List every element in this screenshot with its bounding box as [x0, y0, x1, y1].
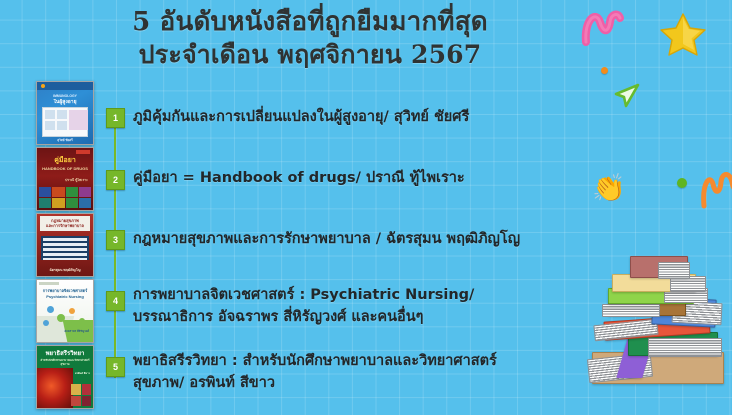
cover-3-title-plate: กฎหมายสุขภาพ และการรักษาพยาบาล — [40, 216, 90, 231]
cover-5-subtitle: สำหรับนักศึกษาพยาบาลและวิทยาศาสตร์สุขภาพ — [40, 358, 90, 366]
cover-3-author: ฉัตรสุมน พฤฒิภิญโญ — [40, 268, 90, 273]
rank-badge-1[interactable]: 1 — [106, 108, 125, 128]
cover-5-micro-photos — [71, 384, 91, 406]
cover-2-author: ปราณี ทู้ไพเราะ — [65, 178, 88, 183]
cover-2-title: คู่มือยา — [40, 156, 90, 167]
cover-2-corner-tab — [76, 150, 90, 154]
green-cursor-arrow-icon — [612, 82, 642, 112]
cover-1-figure-box — [42, 107, 88, 137]
cover-2-pill-photos — [39, 187, 91, 208]
list-item-3-line-1: กฎหมายสุขภาพและการรักษาพยาบาล / ฉัตรสุมน… — [133, 231, 520, 247]
rank-badge-3[interactable]: 3 — [106, 230, 125, 250]
clapping-hands-icon: 👏 — [592, 175, 626, 202]
list-item-4[interactable]: การพยาบาลจิตเวชศาสตร์ : Psychiatric Nurs… — [133, 284, 474, 328]
cover-1-title: ในผู้สูงอายุ — [40, 99, 90, 107]
list-item-2-line-1: คู่มือยา = Handbook of drugs/ ปราณี ทู้ไ… — [133, 170, 465, 186]
green-dot-icon — [677, 178, 687, 188]
list-item-4-line-1: การพยาบาลจิตเวชศาสตร์ : Psychiatric Nurs… — [133, 287, 474, 303]
rank-badge-2[interactable]: 2 — [106, 170, 125, 190]
page-title-line-1: 5 อันดับหนังสือที่ถูกยืมมากที่สุด — [0, 6, 620, 39]
cover-1-top-band — [37, 82, 93, 90]
cover-psychiatric-nursing[interactable]: การพยาบาลจิตเวชศาสตร์ Psychiatric Nursin… — [36, 279, 94, 343]
rank-badge-4[interactable]: 4 — [106, 291, 125, 311]
page-title-line-2: ประจำเดือน พฤศจิกายน 2567 — [0, 39, 620, 71]
cover-4-illustration — [37, 302, 93, 342]
list-item-4-line-2: บรรณาธิการ อัจฉราพร สี่หิรัญวงศ์ และคนอื… — [133, 306, 474, 328]
cover-4-publisher-mark — [39, 282, 59, 285]
yellow-star-icon — [660, 12, 706, 56]
orange-squiggle-icon — [700, 168, 732, 212]
list-item-5[interactable]: พยาธิสรีรวิทยา : สำหรับนักศึกษาพยาบาลและ… — [133, 350, 497, 394]
slide-canvas: 5 อันดับหนังสือที่ถูกยืมมากที่สุด ประจำเ… — [0, 0, 732, 415]
list-item-1-line-1: ภูมิคุ้มกันและการเปลี่ยนแปลงในผู้สูงอายุ… — [133, 109, 469, 125]
cover-4-subtitle: Psychiatric Nursing — [40, 294, 90, 300]
cover-3-photo — [41, 236, 89, 260]
cover-health-law[interactable]: กฎหมายสุขภาพ และการรักษาพยาบาล ฉัตรสุมน … — [36, 213, 94, 277]
cover-1-logo-dot — [41, 84, 45, 88]
cover-4-editors: อัจฉราพร สี่หิรัญวงศ์ — [64, 329, 89, 333]
cover-immunology-aging[interactable]: IMMUNOLOGY ในผู้สูงอายุ สุวิทย์ ชัยศรี — [36, 81, 94, 145]
cover-1-author: สุวิทย์ ชัยศรี — [40, 138, 90, 143]
page-title: 5 อันดับหนังสือที่ถูกยืมมากที่สุด ประจำเ… — [0, 6, 620, 71]
cover-handbook-of-drugs[interactable]: คู่มือยา HANDBOOK OF DRUGS ปราณี ทู้ไพเร… — [36, 147, 94, 211]
cover-pathophysiology[interactable]: พยาธิสรีรวิทยา สำหรับนักศึกษาพยาบาลและวิ… — [36, 345, 94, 409]
list-item-5-line-1: พยาธิสรีรวิทยา : สำหรับนักศึกษาพยาบาลและ… — [133, 353, 497, 369]
list-item-5-line-2: สุขภาพ/ อรพินท์ สีขาว — [133, 372, 497, 394]
list-item-3[interactable]: กฎหมายสุขภาพและการรักษาพยาบาล / ฉัตรสุมน… — [133, 228, 520, 250]
cover-5-author: อรพินท์ สีขาว — [75, 372, 90, 376]
list-item-2[interactable]: คู่มือยา = Handbook of drugs/ ปราณี ทู้ไ… — [133, 167, 465, 189]
cover-2-subtitle: HANDBOOK OF DRUGS — [40, 166, 90, 172]
book-stack-icon — [586, 252, 732, 415]
cover-5-head-illustration — [37, 368, 73, 408]
rank-badge-5[interactable]: 5 — [106, 357, 125, 377]
list-item-1[interactable]: ภูมิคุ้มกันและการเปลี่ยนแปลงในผู้สูงอายุ… — [133, 106, 469, 128]
